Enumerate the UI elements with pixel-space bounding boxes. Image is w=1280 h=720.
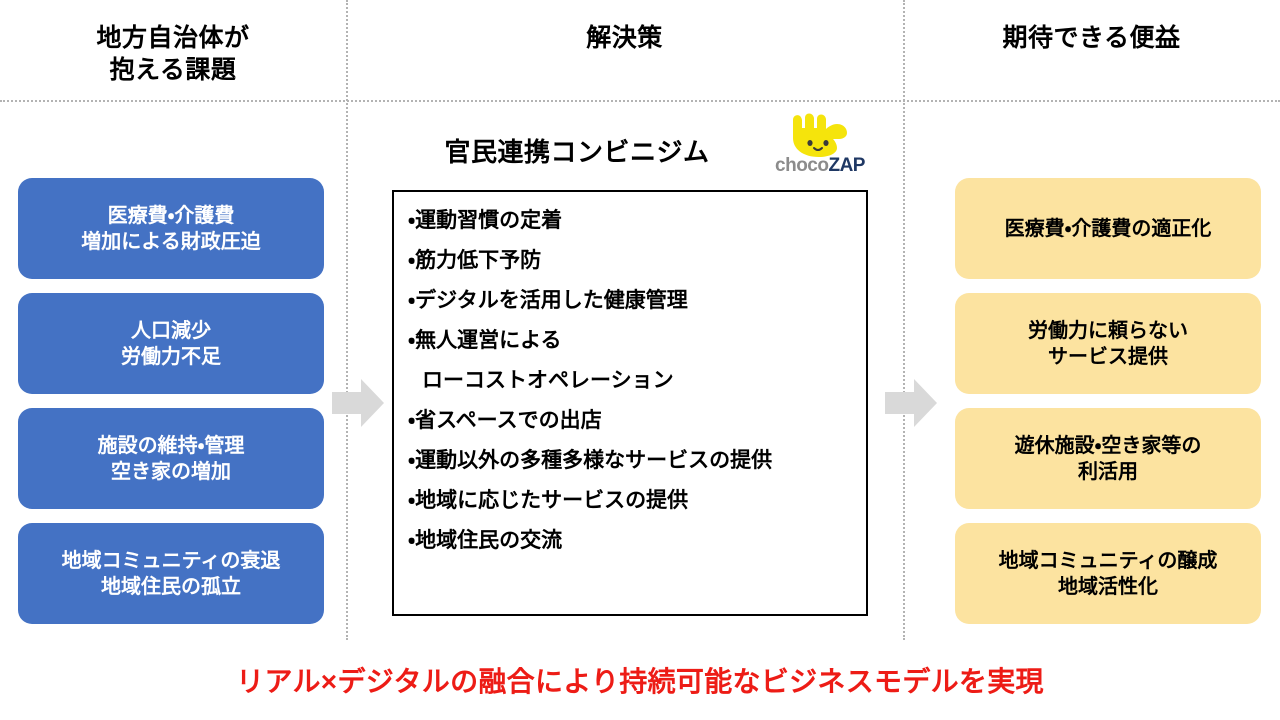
problem-box-line1: 施設の維持・管理 bbox=[98, 435, 245, 457]
column-header-problems: 地方自治体が 抱える課題 bbox=[0, 22, 346, 86]
benefit-box-line2: 利活用 bbox=[1078, 461, 1138, 483]
chocozap-zap-text: ZAP bbox=[828, 155, 865, 176]
solution-bullet-item: ・運動習慣の定着 bbox=[408, 210, 852, 231]
column-header-solution: 解決策 bbox=[346, 22, 903, 54]
problem-box-line2: 増加による財政圧迫 bbox=[81, 231, 260, 253]
solution-bullet-item: ・運動以外の多種多様なサービスの提供 bbox=[408, 450, 852, 471]
solution-bullet-list: ・運動習慣の定着 ・筋力低下予防 ・デジタルを活用した健康管理 ・無人運営による… bbox=[408, 210, 852, 551]
solution-bullet-item: ・筋力低下予防 bbox=[408, 250, 852, 271]
problem-box-line1: 人口減少 bbox=[131, 320, 211, 342]
chocozap-wordmark: chocoZAP bbox=[765, 156, 875, 175]
benefit-box-line1: 遊休施設・空き家等の bbox=[1015, 435, 1202, 457]
footer-tagline: リアル×デジタルの融合により持続可能なビジネスモデルを実現 bbox=[0, 660, 1280, 700]
benefit-box-line1: 医療費・介護費の適正化 bbox=[1005, 218, 1212, 240]
problem-box-line2: 地域住民の孤立 bbox=[101, 576, 241, 598]
chocozap-logo: chocoZAP bbox=[765, 112, 875, 178]
problem-box-line2: 労働力不足 bbox=[121, 346, 221, 368]
arrow-right-icon-right bbox=[883, 375, 939, 431]
benefit-box-line2: サービス提供 bbox=[1048, 346, 1168, 368]
benefit-box: 地域コミュニティの醸成 地域活性化 bbox=[955, 523, 1261, 624]
problem-box-line1: 地域コミュニティの衰退 bbox=[62, 550, 281, 572]
problem-box: 地域コミュニティの衰退 地域住民の孤立 bbox=[18, 523, 324, 624]
column-header-benefits: 期待できる便益 bbox=[903, 22, 1280, 54]
chocozap-mascot-icon bbox=[765, 112, 875, 158]
solution-bullet-item: ・地域に応じたサービスの提供 bbox=[408, 490, 852, 511]
column-header-problems-line2: 抱える課題 bbox=[110, 56, 237, 84]
problem-box: 施設の維持・管理 空き家の増加 bbox=[18, 408, 324, 509]
benefit-box: 遊休施設・空き家等の 利活用 bbox=[955, 408, 1261, 509]
benefit-box-line2: 地域活性化 bbox=[1058, 576, 1158, 598]
problem-box: 人口減少 労働力不足 bbox=[18, 293, 324, 394]
problem-box: 医療費・介護費 増加による財政圧迫 bbox=[18, 178, 324, 279]
vertical-divider-right bbox=[903, 0, 905, 640]
benefit-box-line1: 労働力に頼らない bbox=[1028, 320, 1188, 342]
vertical-divider-left bbox=[346, 0, 348, 640]
solution-bullet-item: ・地域住民の交流 bbox=[408, 530, 852, 551]
benefit-box: 医療費・介護費の適正化 bbox=[955, 178, 1261, 279]
solution-title: 官民連携コンビニジム bbox=[392, 132, 762, 169]
chocozap-choco-text: choco bbox=[775, 155, 828, 176]
benefit-box: 労働力に頼らない サービス提供 bbox=[955, 293, 1261, 394]
arrow-right-icon-left bbox=[330, 375, 386, 431]
horizontal-divider bbox=[0, 100, 1280, 102]
problem-box-line2: 空き家の増加 bbox=[111, 461, 231, 483]
solution-detail-panel: ・運動習慣の定着 ・筋力低下予防 ・デジタルを活用した健康管理 ・無人運営による… bbox=[392, 190, 868, 616]
solution-bullet-item: ・無人運営による bbox=[408, 330, 852, 351]
solution-bullet-item-continuation: ローコストオペレーション bbox=[408, 370, 852, 391]
benefit-box-list: 医療費・介護費の適正化 労働力に頼らない サービス提供 遊休施設・空き家等の 利… bbox=[955, 178, 1261, 638]
benefit-box-line1: 地域コミュニティの醸成 bbox=[999, 550, 1218, 572]
column-header-problems-line1: 地方自治体が bbox=[96, 24, 249, 52]
problem-box-list: 医療費・介護費 増加による財政圧迫 人口減少 労働力不足 施設の維持・管理 空き… bbox=[18, 178, 324, 638]
problem-box-line1: 医療費・介護費 bbox=[108, 205, 235, 227]
solution-bullet-item: ・省スペースでの出店 bbox=[408, 410, 852, 431]
solution-bullet-item: ・デジタルを活用した健康管理 bbox=[408, 290, 852, 311]
